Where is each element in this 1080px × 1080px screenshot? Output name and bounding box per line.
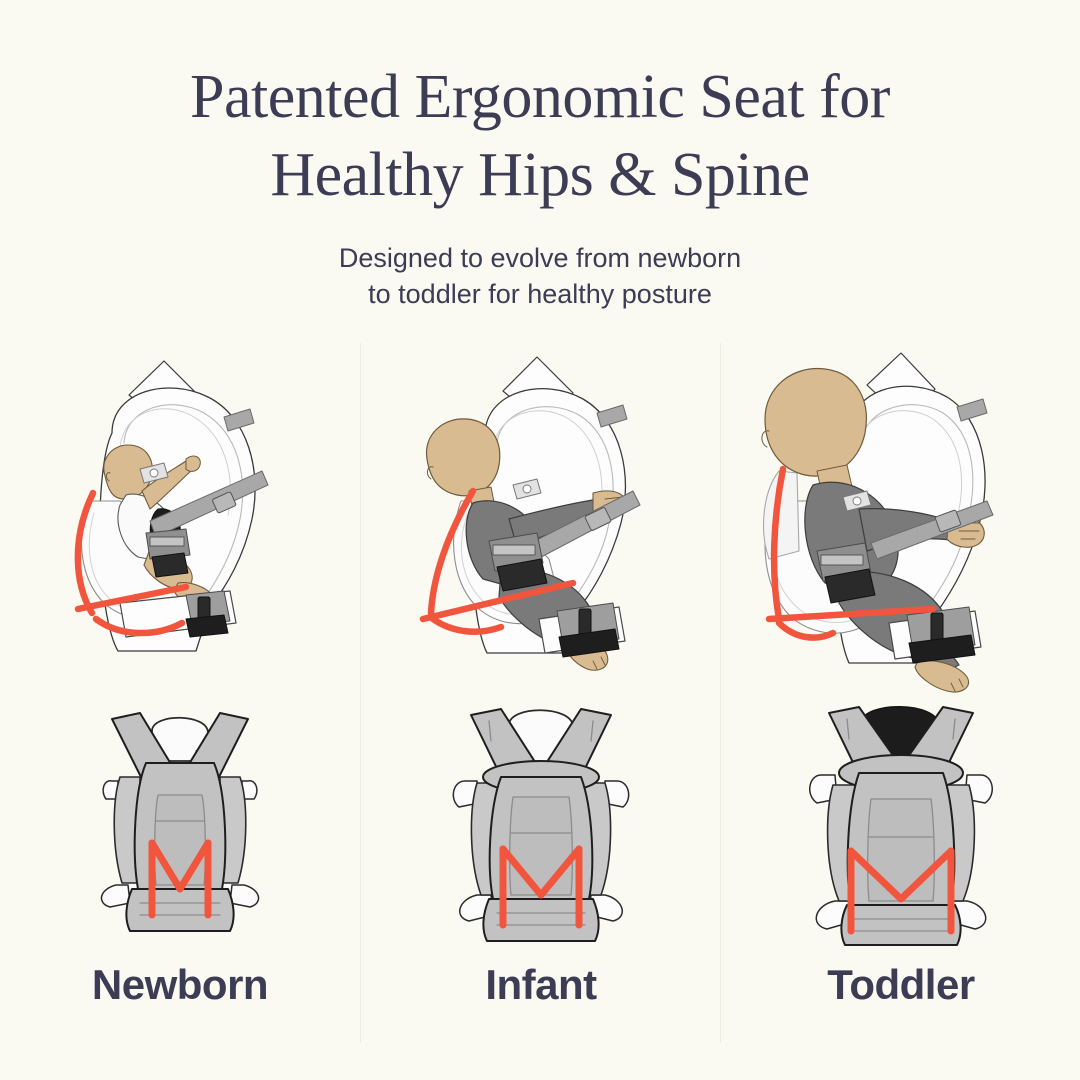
page-subtitle-line-1: Designed to evolve from newborn bbox=[0, 240, 1080, 276]
toddler-side-view-illustration bbox=[721, 351, 1080, 696]
page-subtitle-line-2: to toddler for healthy posture bbox=[0, 276, 1080, 312]
page-title-line-2: Healthy Hips & Spine bbox=[0, 136, 1080, 214]
column-label-toddler: Toddler bbox=[721, 961, 1080, 1009]
column-newborn: Newborn bbox=[0, 343, 360, 1043]
stage-columns: Newborn bbox=[0, 343, 1080, 1043]
newborn-front-view-illustration bbox=[0, 703, 360, 948]
infant-front-view-illustration bbox=[361, 703, 721, 948]
column-infant: Infant bbox=[360, 343, 720, 1043]
header: Patented Ergonomic Seat for Healthy Hips… bbox=[0, 0, 1080, 312]
column-label-infant: Infant bbox=[361, 961, 721, 1009]
newborn-side-view-illustration bbox=[0, 351, 360, 696]
page-title-line-1: Patented Ergonomic Seat for bbox=[0, 58, 1080, 136]
column-toddler: Toddler bbox=[720, 343, 1080, 1043]
column-label-newborn: Newborn bbox=[0, 961, 360, 1009]
page-subtitle: Designed to evolve from newborn to toddl… bbox=[0, 214, 1080, 312]
infant-side-view-illustration bbox=[361, 351, 721, 696]
page-title: Patented Ergonomic Seat for Healthy Hips… bbox=[0, 0, 1080, 214]
toddler-front-view-illustration bbox=[721, 703, 1080, 948]
infographic-page: Patented Ergonomic Seat for Healthy Hips… bbox=[0, 0, 1080, 1080]
